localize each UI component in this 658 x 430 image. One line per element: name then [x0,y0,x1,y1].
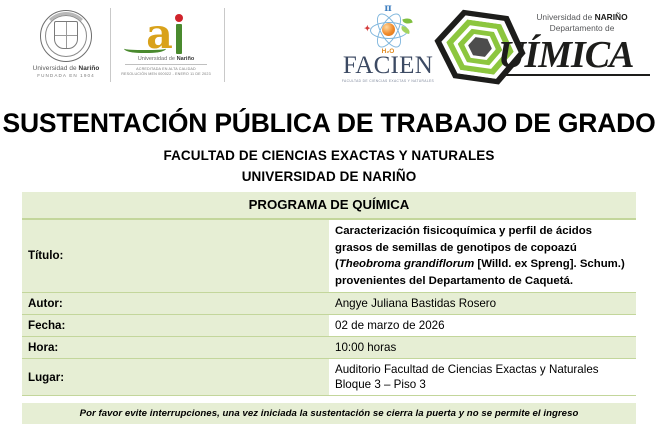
pi-symbol: π [384,3,391,14]
titulo-species-italic: Theobroma grandiflorum [339,258,474,270]
facien-wordmark: FACIEN [336,53,440,78]
table-header-programa: PROGRAMA DE QUÍMICA [22,192,636,219]
facien-subtitle: FACULTAD DE CIENCIAS EXACTAS Y NATURALES [336,79,440,83]
footer-note: Por favor evite interrupciones, una vez … [22,403,636,424]
table-row-autor: Autor: Angye Juliana Bastidas Rosero [22,293,636,315]
ai-monogram-icon: a [118,12,214,54]
quimica-universidad-plain: Universidad de [536,12,594,22]
label-fecha: Fecha: [22,315,329,337]
label-autor: Autor: [22,293,329,315]
seal-shield-icon [54,21,78,49]
udenar-name-plain: Universidad de [33,65,79,72]
value-fecha: 02 de marzo de 2026 [329,315,636,337]
quimica-wordmark: UÍMICA [498,36,634,74]
table-row-fecha: Fecha: 02 de marzo de 2026 [22,315,636,337]
water-formula-label: H₂O [382,48,395,55]
label-lugar: Lugar: [22,359,329,396]
udenar-founded-text: FUNDADA EN 1904 [28,73,104,78]
logo-departamento-de-quimica: Universidad de NARIÑO Departamento de UÍ… [432,8,650,86]
value-lugar: Auditorio Facultad de Ciencias Exactas y… [329,359,636,396]
lugar-line-2: Bloque 3 – Piso 3 [335,377,630,392]
value-hora: 10:00 horas [329,337,636,359]
logo-facien: ✦ π H₂O FACIEN FACULTAD DE CIENCIAS EXAC… [336,6,440,83]
table-row-lugar: Lugar: Auditorio Facultad de Ciencias Ex… [22,359,636,396]
logo-divider-right [224,8,225,82]
ai-dot-icon [175,14,183,22]
label-titulo: Título: [22,219,329,293]
ai-swoosh-icon [124,42,166,53]
logo-divider-left [110,8,111,82]
ai-institution-bold: Nariño [177,56,195,62]
quimica-underline [504,74,650,76]
university-seal-icon [40,10,92,62]
lugar-line-1: Auditorio Facultad de Ciencias Exactas y… [335,362,630,377]
table-row-hora: Hora: 10:00 horas [22,337,636,359]
sustentacion-info-table: PROGRAMA DE QUÍMICA Título: Caracterizac… [22,192,636,396]
spark-icon: ✦ [364,24,371,33]
header-logo-bar: Universidad de Nariño FUNDADA EN 1904 a … [0,0,658,96]
label-hora: Hora: [22,337,329,359]
atom-icon: ✦ π H₂O [365,6,411,52]
titulo-text: Caracterización fisicoquímica y perfil d… [335,225,625,287]
quimica-text-block: Universidad de NARIÑO Departamento de [514,12,650,33]
value-autor: Angye Juliana Bastidas Rosero [329,293,636,315]
ai-stem-icon [176,24,182,54]
atom-nucleus-icon [382,23,395,36]
page-title: SUSTENTACIÓN PÚBLICA DE TRABAJO DE GRADO [0,108,658,139]
quimica-universidad-bold: NARIÑO [595,12,628,22]
subtitle-facultad: FACULTAD DE CIENCIAS EXACTAS Y NATURALES [0,148,658,163]
table-row-titulo: Título: Caracterización fisicoquímica y … [22,219,636,293]
logo-universidad-de-narino: Universidad de Nariño FUNDADA EN 1904 [28,10,104,78]
logo-acreditacion-alta-calidad: a Universidad de Nariño ACREDITADA EN AL… [118,12,214,77]
udenar-logo-name: Universidad de Nariño [28,65,104,72]
subtitle-universidad: UNIVERSIDAD DE NARIÑO [0,169,658,184]
quimica-line-universidad: Universidad de NARIÑO [514,12,650,22]
ai-accreditation-line2: RESOLUCIÓN MEN 000022 - ENERO 11 DE 2023 [118,72,214,77]
ai-rule-divider [125,64,208,65]
table-header-row: PROGRAMA DE QUÍMICA [22,192,636,219]
value-titulo: Caracterización fisicoquímica y perfil d… [329,219,636,293]
udenar-name-bold: Nariño [79,65,100,72]
ai-letter-i [173,14,186,54]
quimica-line-departamento: Departamento de [514,23,650,33]
